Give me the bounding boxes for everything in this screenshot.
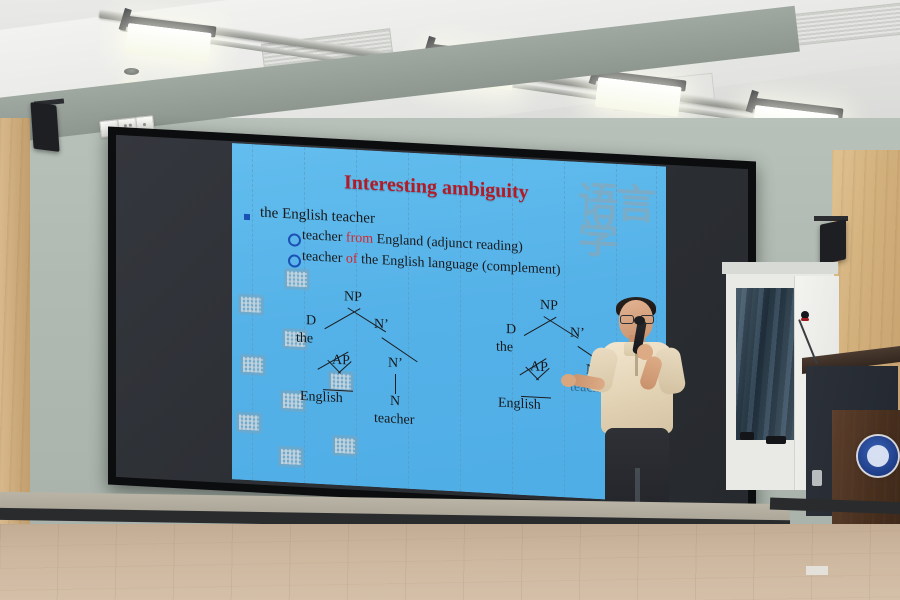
floor-speaker bbox=[766, 436, 786, 444]
wood-wall-panel-left bbox=[0, 118, 30, 538]
tree-node-d: D bbox=[306, 313, 316, 330]
sub-bullet-1-highlight: from bbox=[346, 230, 373, 246]
tree-leaf-the: the bbox=[296, 331, 313, 348]
seal-watermark bbox=[240, 354, 266, 376]
bullet-square-icon bbox=[244, 214, 250, 220]
tree-leaf-english: English bbox=[498, 396, 541, 414]
tree-triangle-icon bbox=[322, 372, 354, 391]
track-light-icon bbox=[595, 77, 682, 117]
college-emblem bbox=[858, 436, 898, 476]
bullet-circle-icon bbox=[288, 254, 301, 268]
tree-leaf-english: English bbox=[300, 389, 343, 407]
sub-bullet-1-pre: teacher bbox=[302, 228, 346, 245]
seal-watermark bbox=[238, 293, 264, 315]
tree-node-nbar-1: N’ bbox=[374, 317, 389, 334]
tree-node-np: NP bbox=[344, 289, 362, 306]
presenter-hand-right bbox=[637, 344, 653, 360]
bullet-circle-icon bbox=[288, 233, 301, 247]
tree-node-n: N bbox=[390, 394, 400, 411]
tree-node-np: NP bbox=[540, 298, 558, 315]
podium-label-plate bbox=[812, 470, 822, 486]
tree-leaf-teacher: teacher bbox=[374, 411, 414, 429]
tree-node-d: D bbox=[506, 322, 516, 339]
floor bbox=[0, 524, 900, 600]
wall-speaker-right bbox=[820, 219, 846, 265]
microphone-head-icon bbox=[634, 316, 645, 325]
floor-speaker bbox=[740, 432, 754, 440]
tree-triangle-icon bbox=[520, 379, 552, 398]
seal-watermark bbox=[278, 446, 304, 468]
wall-speaker-left bbox=[30, 102, 59, 152]
syntax-tree-adjunct: NP D the N’ AP English N’ N t bbox=[292, 286, 472, 456]
presenter-hand-left bbox=[561, 374, 576, 387]
tree-leaf-the: the bbox=[496, 339, 513, 356]
calligraphy-watermark: 语言学 bbox=[578, 184, 666, 262]
floor-marker bbox=[806, 566, 828, 575]
downlight-icon bbox=[124, 68, 139, 75]
stage-curtain bbox=[736, 288, 798, 440]
tree-node-nbar-2: N’ bbox=[388, 356, 403, 373]
sub-bullet-2-pre: teacher bbox=[302, 249, 346, 266]
alcove-header bbox=[722, 262, 838, 274]
lecture-hall-photo: 语言学 Interesting ambiguity the English te… bbox=[0, 0, 900, 600]
sub-bullet-2-highlight: of bbox=[346, 251, 358, 267]
microphone-band bbox=[801, 318, 809, 321]
seal-watermark bbox=[236, 411, 262, 433]
